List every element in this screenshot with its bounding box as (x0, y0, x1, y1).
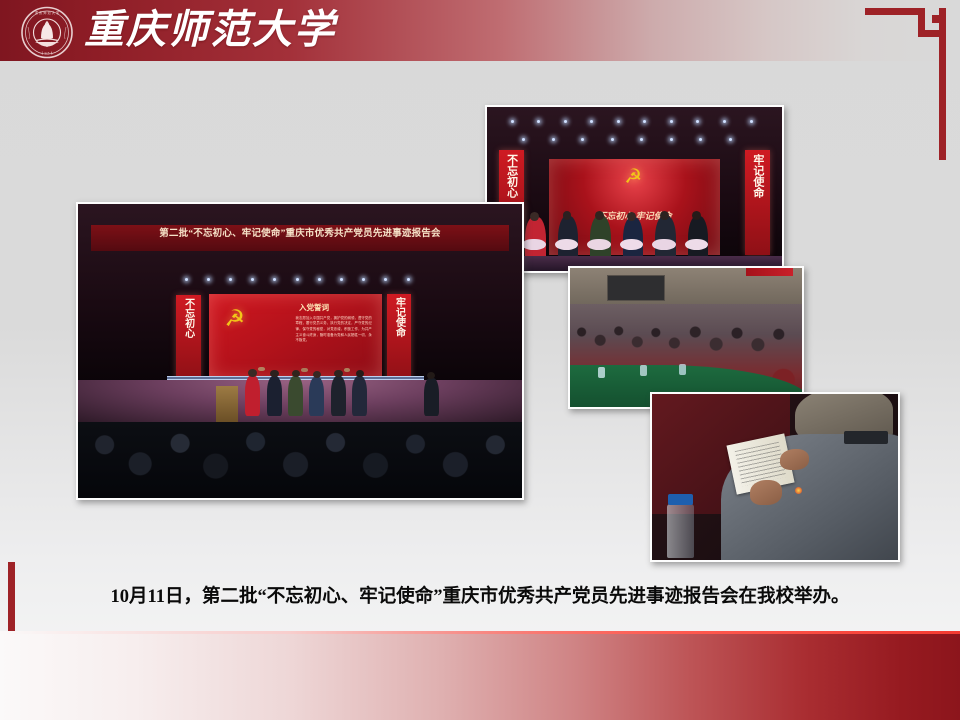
left-banner-text: 不忘初心 (182, 298, 195, 338)
right-banner-text: 牢记使命 (750, 154, 765, 198)
attendee-taking-notes-photo (650, 392, 900, 562)
svg-text:1 9 5 4: 1 9 5 4 (41, 52, 52, 56)
slide-caption: 10月11日，第二批“不忘初心、牢记使命”重庆市优秀共产党员先进事迹报告会在我校… (0, 580, 960, 614)
left-banner-text: 不忘初心 (504, 154, 519, 198)
audience-auditorium-photo (568, 266, 804, 409)
svg-text:重 庆 师 范 大 学: 重 庆 师 范 大 学 (35, 10, 59, 15)
slide-header-bar: 重 庆 师 范 大 学 1 9 5 4 重庆师范大学 (0, 0, 960, 61)
party-emblem-icon: ☭ (624, 167, 642, 187)
bottom-band-highlight-line (0, 631, 960, 634)
chinese-corner-ornament-top-right (865, 8, 953, 160)
right-banner-text: 牢记使命 (393, 297, 406, 337)
oath-title-text: 入党誓词 (299, 302, 329, 313)
stage-oath-ceremony-photo: 第二批“不忘初心、牢记使命”重庆市优秀共产党员先进事迹报告会 不忘初心 ☭ 入党… (76, 202, 524, 500)
honorees-with-flowers-photo: ☭ 不忘初心 牢记使命 不忘初心 牢记使命 (485, 105, 784, 273)
audience-silhouettes (78, 422, 522, 498)
presentation-slide: 重 庆 师 范 大 学 1 9 5 4 重庆师范大学 (0, 0, 960, 720)
oath-body-text: 我志愿加入中国共产党，拥护党的纲领，遵守党的章程，履行党员义务，执行党的决定，严… (296, 316, 372, 344)
party-emblem-icon: ☭ (225, 307, 246, 330)
stage-banner-text: 第二批“不忘初心、牢记使命”重庆市优秀共产党员先进事迹报告会 (91, 225, 508, 251)
bottom-decorative-band (0, 631, 960, 720)
university-name-title: 重庆师范大学 (84, 4, 344, 56)
university-seal-logo: 重 庆 师 范 大 学 1 9 5 4 (15, 5, 79, 60)
